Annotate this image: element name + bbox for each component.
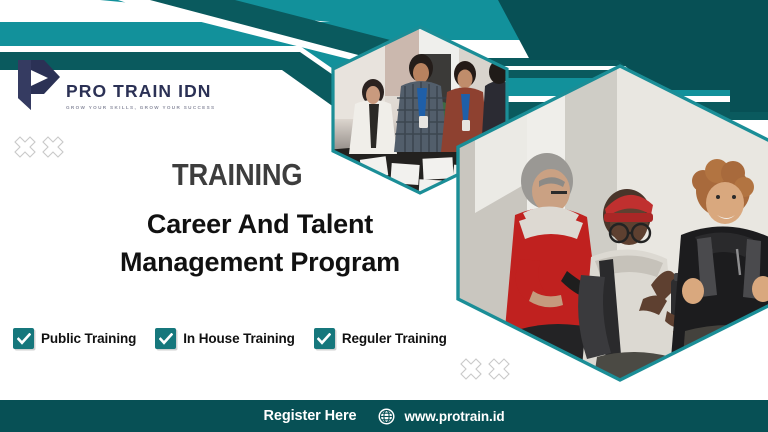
training-option-label: Reguler Training [342,331,447,346]
check-icon[interactable] [314,328,335,349]
footer-bar: Register Here www.protrain.id [0,400,768,432]
brand-tagline: GROW YOUR SKILLS, GROW YOUR SUCCESS [66,105,215,110]
pro-train-arrow-logo-icon [14,56,62,114]
brand-name: PRO TRAIN IDN [66,83,215,101]
page-title-line-2: Management Program [90,243,430,281]
training-option-reguler[interactable]: Reguler Training [314,328,447,349]
globe-icon [378,408,395,425]
training-options-list: Public Training In House Training Regule… [13,328,447,349]
training-option-in-house[interactable]: In House Training [155,328,295,349]
page-title: Career And Talent Management Program [90,205,430,282]
double-x-outline-icon-left [12,136,70,164]
training-promo-poster: PRO TRAIN IDN GROW YOUR SKILLS, GROW YOU… [0,0,768,432]
training-option-public[interactable]: Public Training [13,328,136,349]
students-talking-hexagon-photo [455,63,768,383]
check-icon[interactable] [13,328,34,349]
training-option-label: In House Training [183,331,295,346]
website-link[interactable]: www.protrain.id [378,408,504,425]
check-icon[interactable] [155,328,176,349]
double-x-outline-icon-right [458,358,516,386]
page-title-line-1: Career And Talent [90,205,430,243]
training-option-label: Public Training [41,331,136,346]
brand-logo[interactable]: PRO TRAIN IDN GROW YOUR SKILLS, GROW YOU… [14,56,215,114]
website-url: www.protrain.id [404,409,504,424]
page-eyebrow: TRAINING [172,159,302,190]
register-here-label[interactable]: Register Here [263,408,356,424]
